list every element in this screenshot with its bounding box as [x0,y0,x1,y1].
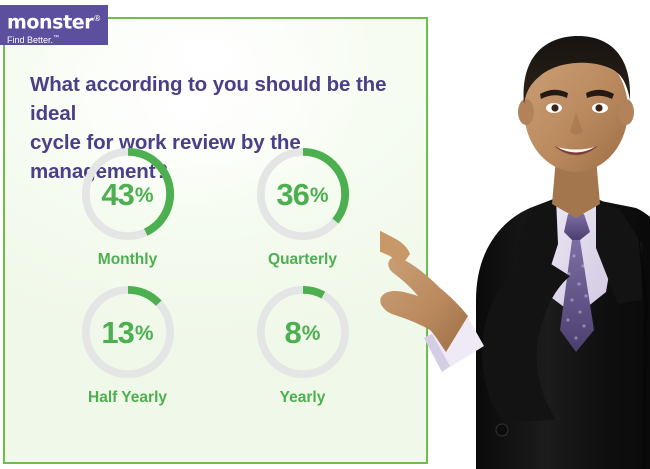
donut-chart-grid: 43% Monthly 36% Quarterly [40,145,390,407]
dress-shirt [530,200,620,316]
necktie-pattern [566,254,587,339]
suit-jacket [476,196,650,469]
shirt-collar [552,196,600,222]
donut-monthly: 43% Monthly [40,145,215,269]
logo-wordmark: monster® [7,9,108,32]
donut-label-yearly: Yearly [280,389,326,407]
jacket-seam [636,214,648,469]
logo-tagline: Find Better.™ [7,33,108,46]
monster-logo[interactable]: monster® Find Better.™ [0,5,108,45]
donut-number-yearly: 8 [285,317,301,348]
donut-percent-sign-monthly: % [135,185,154,206]
hair [524,36,631,104]
teeth [557,147,595,153]
eye-left [546,103,562,113]
neck [552,158,600,218]
donut-label-monthly: Monthly [98,251,157,269]
donut-ring-monthly: 43% [79,145,177,243]
donut-label-quarterly: Quarterly [268,251,337,269]
donut-value-monthly: 43% [79,145,177,243]
nose [570,112,583,135]
donut-row-top: 43% Monthly 36% Quarterly [40,145,390,269]
pupil-left [551,104,558,111]
eyebrow-right [586,90,614,99]
donut-value-yearly: 8% [254,283,352,381]
donut-label-half-yearly: Half Yearly [88,389,167,407]
donut-ring-yearly: 8% [254,283,352,381]
jacket-button [496,424,508,436]
eye-right [592,103,608,113]
head [524,48,628,172]
ear-right [618,99,634,125]
donut-percent-sign-yearly: % [302,323,321,344]
suit-sleeve-pointing-arm [482,252,570,422]
eyebrow-left [540,90,568,99]
shirt-cuff [424,314,484,372]
necktie-body [560,240,594,352]
donut-value-half-yearly: 13% [79,283,177,381]
headline-line-1: What according to you should be the idea… [30,70,410,128]
donut-value-quarterly: 36% [254,145,352,243]
ear-left [518,99,534,125]
jacket-lapel-right [596,198,642,304]
donut-yearly: 8% Yearly [215,283,390,407]
donut-number-monthly: 43 [101,179,133,210]
donut-quarterly: 36% Quarterly [215,145,390,269]
trademark-mark-icon: ™ [53,35,59,41]
jacket-lapel-left [516,198,558,300]
donut-percent-sign-quarterly: % [310,185,329,206]
mouth [554,146,598,155]
donut-number-quarterly: 36 [276,179,308,210]
registered-mark-icon: ® [93,14,101,23]
pupil-right [595,104,602,111]
donut-number-half-yearly: 13 [101,317,133,348]
donut-ring-quarterly: 36% [254,145,352,243]
poll-infographic: monster® Find Better.™ What according to… [0,0,650,469]
donut-ring-half-yearly: 13% [79,283,177,381]
donut-row-bottom: 13% Half Yearly 8% Yearly [40,283,390,407]
donut-half-yearly: 13% Half Yearly [40,283,215,407]
donut-percent-sign-half-yearly: % [135,323,154,344]
necktie [564,214,590,240]
